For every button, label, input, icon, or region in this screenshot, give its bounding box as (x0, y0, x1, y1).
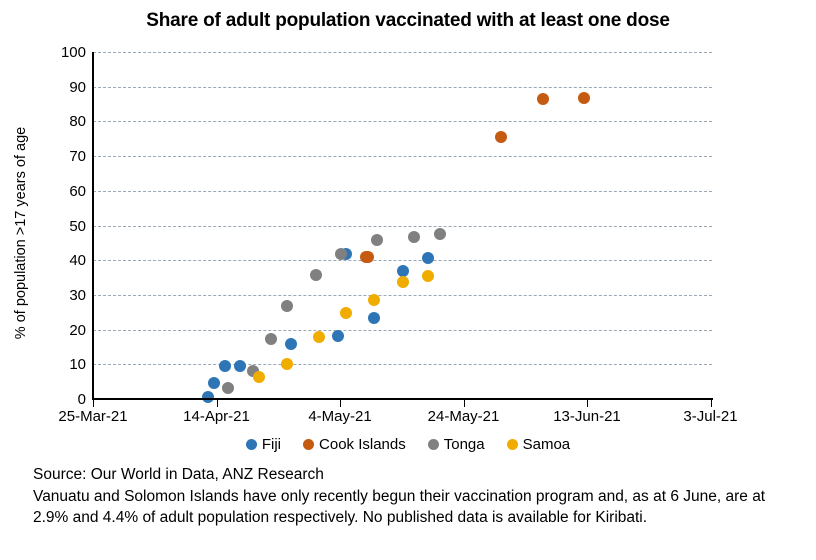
gridline (93, 295, 712, 296)
y-tick-label: 90 (26, 80, 86, 95)
x-tick-label: 24-May-21 (399, 408, 529, 425)
x-tick-label: 25-Mar-21 (28, 408, 158, 425)
data-point (578, 92, 590, 104)
data-point (234, 360, 246, 372)
x-tick (217, 400, 218, 407)
y-tick-label: 10 (26, 357, 86, 372)
legend-item-cook-islands[interactable]: Cook Islands (303, 436, 406, 453)
data-point (219, 360, 231, 372)
footnote-block: Source: Our World in Data, ANZ Research … (33, 464, 803, 529)
data-point (368, 294, 380, 306)
data-point (422, 270, 434, 282)
data-point (222, 382, 234, 394)
x-axis-line (92, 398, 713, 400)
data-point (397, 276, 409, 288)
x-tick (93, 400, 94, 407)
x-tick-label: 3-Jul-21 (646, 408, 776, 425)
y-tick-label: 70 (26, 149, 86, 164)
x-tick-label: 13-Jun-21 (522, 408, 652, 425)
x-tick (464, 400, 465, 407)
data-point (434, 228, 446, 240)
legend-label: Tonga (444, 436, 485, 453)
legend-marker-icon (507, 439, 518, 450)
legend-marker-icon (303, 439, 314, 450)
gridline (93, 52, 712, 53)
page-title: Share of adult population vaccinated wit… (0, 10, 816, 32)
y-axis-line (92, 52, 94, 400)
note-line: Vanuatu and Solomon Islands have only re… (33, 486, 803, 529)
data-point (495, 131, 507, 143)
y-tick-label: 20 (26, 323, 86, 338)
y-tick-label: 100 (26, 45, 86, 60)
data-point (313, 331, 325, 343)
data-point (208, 377, 220, 389)
legend-marker-icon (246, 439, 257, 450)
y-axis-title: % of population >17 years of age (13, 93, 29, 373)
data-point (340, 307, 352, 319)
source-line: Source: Our World in Data, ANZ Research (33, 464, 803, 486)
data-point (265, 333, 277, 345)
gridline (93, 330, 712, 331)
y-tick-label: 40 (26, 253, 86, 268)
data-point (397, 265, 409, 277)
legend-item-fiji[interactable]: Fiji (246, 436, 281, 453)
gridline (93, 226, 712, 227)
legend-item-tonga[interactable]: Tonga (428, 436, 485, 453)
chart-legend: FijiCook IslandsTongaSamoa (0, 436, 816, 453)
gridline (93, 191, 712, 192)
x-tick (711, 400, 712, 407)
legend-label: Samoa (523, 436, 571, 453)
plot-area (93, 52, 712, 399)
gridline (93, 364, 712, 365)
gridline (93, 260, 712, 261)
y-tick-label: 30 (26, 288, 86, 303)
data-point (202, 391, 214, 403)
data-point (362, 251, 374, 263)
x-tick (587, 400, 588, 407)
y-tick-label: 80 (26, 114, 86, 129)
data-point (310, 269, 322, 281)
data-point (281, 358, 293, 370)
data-point (371, 234, 383, 246)
data-point (368, 312, 380, 324)
x-tick (340, 400, 341, 407)
x-tick-label: 14-Apr-21 (152, 408, 282, 425)
legend-item-samoa[interactable]: Samoa (507, 436, 571, 453)
y-tick-label: 0 (26, 392, 86, 407)
legend-marker-icon (428, 439, 439, 450)
y-tick-label: 60 (26, 184, 86, 199)
x-tick-label: 4-May-21 (275, 408, 405, 425)
data-point (408, 231, 420, 243)
y-tick-label: 50 (26, 219, 86, 234)
legend-label: Cook Islands (319, 436, 406, 453)
data-point (253, 371, 265, 383)
data-point (537, 93, 549, 105)
gridline (93, 121, 712, 122)
gridline (93, 87, 712, 88)
data-point (332, 330, 344, 342)
data-point (422, 252, 434, 264)
data-point (285, 338, 297, 350)
gridline (93, 156, 712, 157)
data-point (281, 300, 293, 312)
legend-label: Fiji (262, 436, 281, 453)
